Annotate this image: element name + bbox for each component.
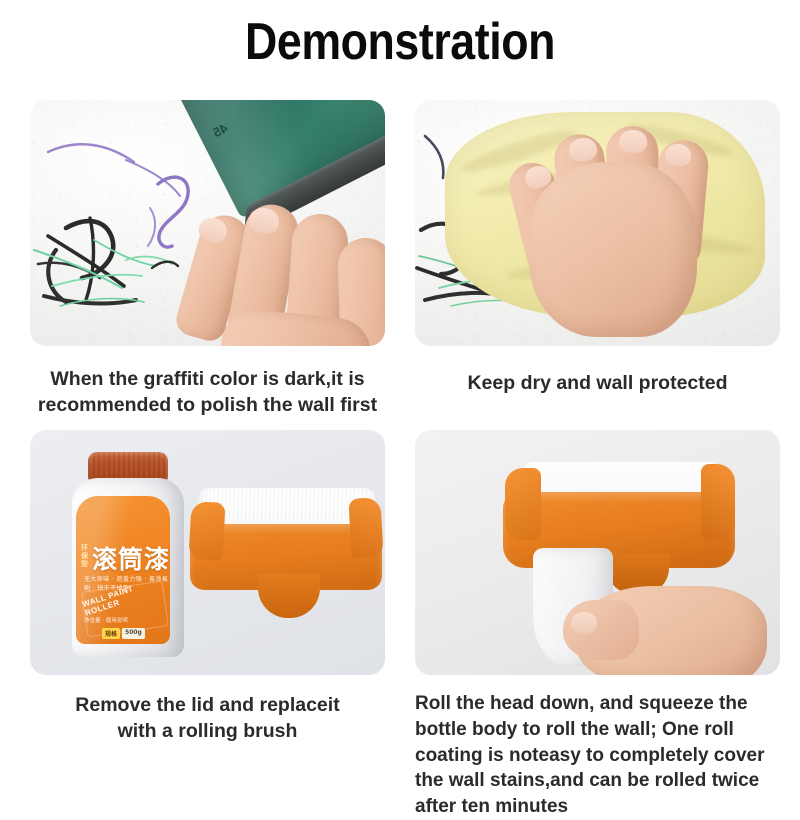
caption-line: Keep dry and wall protected [415,371,780,397]
block-print-number: 45 [210,120,230,140]
demonstration-page: Demonstration [0,0,800,800]
caption-line: coating is noteasy to completely cover [415,743,780,769]
hand [563,572,773,675]
caption-line: bottle body to roll the wall; One roll [415,717,780,743]
step-card-1: QETAO S1Z 45 粗 When the graffiti color i… [30,100,385,419]
caption-line: recommended to polish the wall first [30,393,385,419]
roller-arm-right [348,497,383,559]
palm [529,162,697,337]
step-card-2: Keep dry and wall protected [415,100,780,397]
thumbnail [571,612,597,634]
caption-line: after ten minutes [415,794,780,820]
hand [511,122,721,337]
caption-line: the wall stains,and can be rolled twice [415,768,780,794]
caption-line: Remove the lid and replaceit [30,693,385,719]
step-3-caption: Remove the lid and replaceit with a roll… [30,693,385,745]
weight-badge-label: 规格 [102,628,120,639]
roller-neck [258,574,320,618]
roller-head [190,488,382,638]
roller-arm-right [701,464,735,540]
roller-arm-left [189,501,226,561]
page-title: Demonstration [56,12,744,72]
step-2-photo [415,100,780,346]
label-side-text: 环保型 [81,544,92,568]
weight-badge-value: 500g [122,628,145,639]
roller-arm-left [505,468,541,540]
weight-badge: 规格 500g [102,628,145,639]
step-2-caption: Keep dry and wall protected [415,371,780,397]
paint-bottle: 环保型 滚筒漆 无大异味 · 遮盖力强 · 易涂易刷 · 快干不掉色 WALL … [66,452,190,657]
step-3-photo: 环保型 滚筒漆 无大异味 · 遮盖力强 · 易涂易刷 · 快干不掉色 WALL … [30,430,385,675]
hand [181,196,385,346]
caption-line: Roll the head down, and squeeze the [415,691,780,717]
block-print-mark: 粗 [220,100,237,103]
step-1-photo: QETAO S1Z 45 粗 [30,100,385,346]
caption-line: When the graffiti color is dark,it is [30,367,385,393]
caption-line: with a rolling brush [30,719,385,745]
label-main-text: 滚筒漆 [92,540,170,576]
step-4-photo [415,430,780,675]
step-card-3: 环保型 滚筒漆 无大异味 · 遮盖力强 · 易涂易刷 · 快干不掉色 WALL … [30,430,385,745]
label-foot-text: 净含量 · 使用说明 [84,616,128,624]
step-4-caption: Roll the head down, and squeeze the bott… [415,691,780,820]
step-card-4: Roll the head down, and squeeze the bott… [415,430,780,820]
product-label: 环保型 滚筒漆 无大异味 · 遮盖力强 · 易涂易刷 · 快干不掉色 WALL … [76,496,170,644]
step-1-caption: When the graffiti color is dark,it is re… [30,367,385,419]
